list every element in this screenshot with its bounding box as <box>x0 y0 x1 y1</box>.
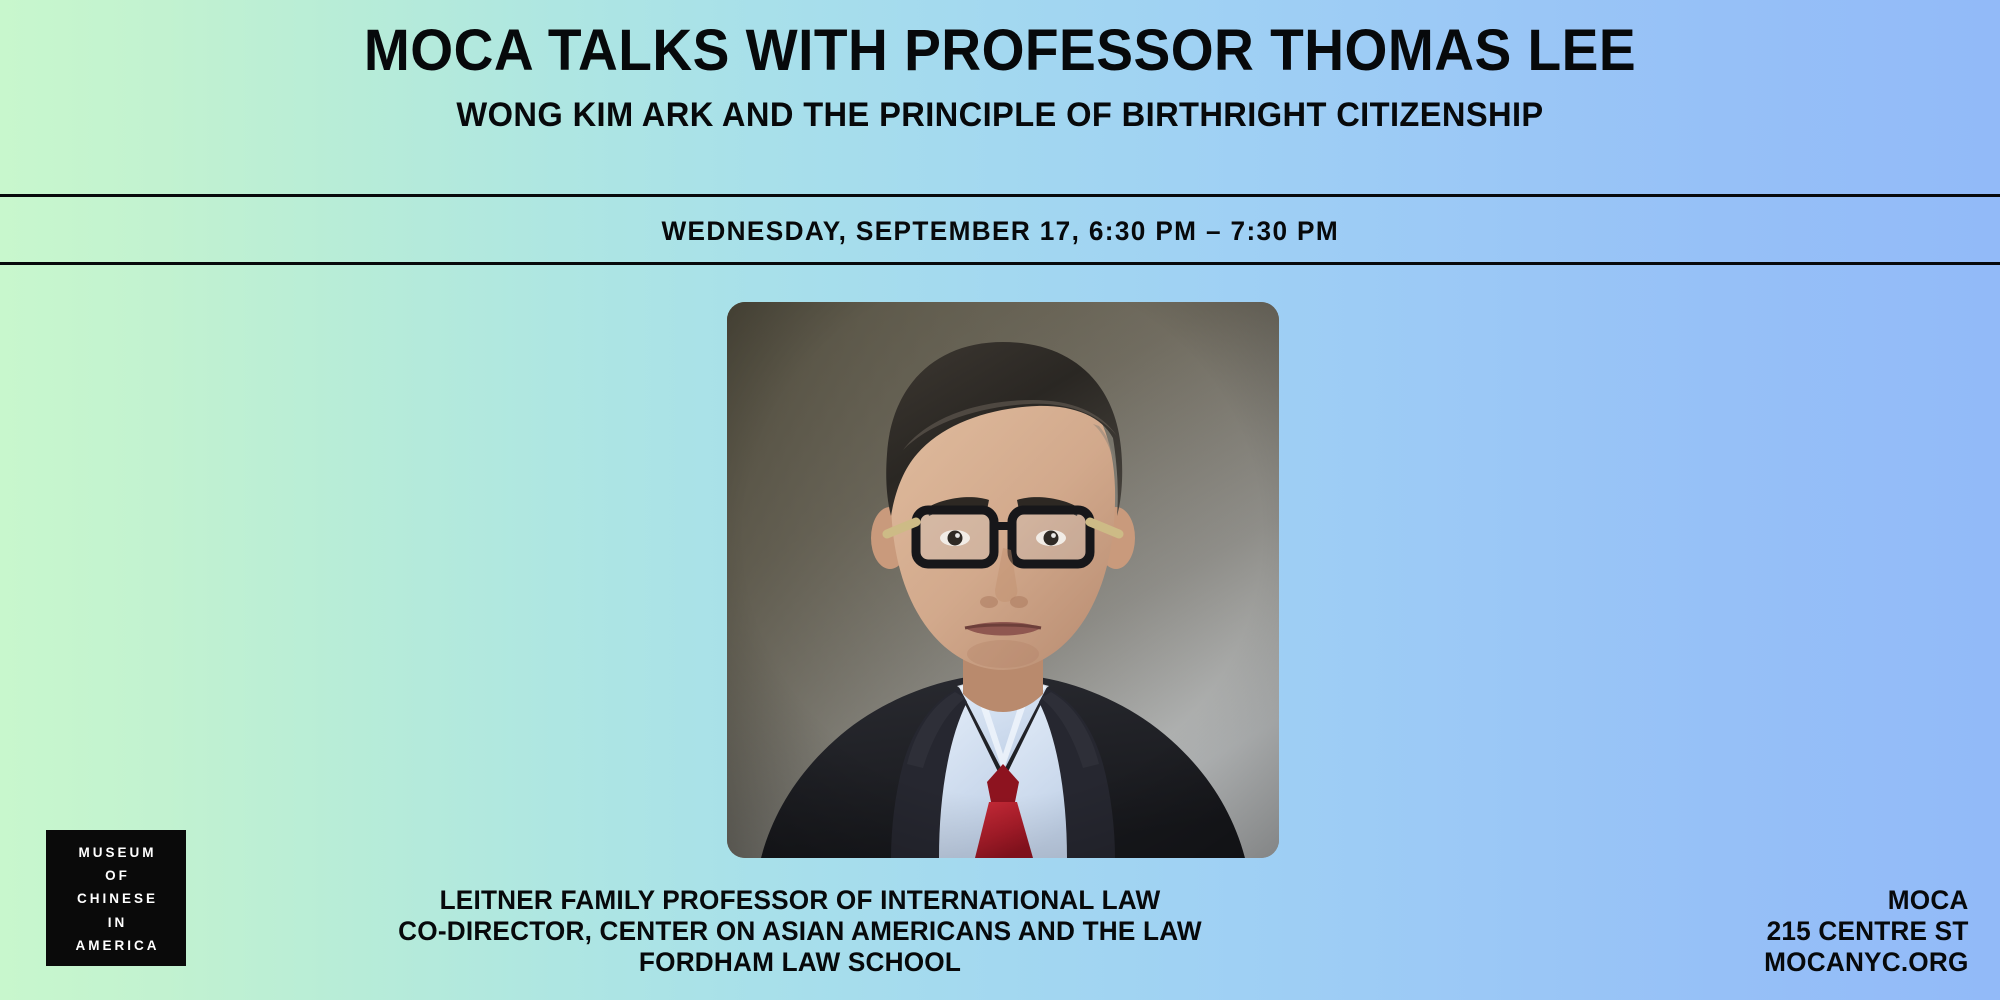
logo-line-america: America <box>73 934 160 957</box>
credit-line-3: Fordham Law School <box>393 947 1208 978</box>
datetime-row: Wednesday, September 17, 6:30 PM – 7:30 … <box>0 207 2000 255</box>
speaker-credits: Leitner Family Professor of Internationa… <box>380 885 1220 978</box>
credit-line-2: Co-Director, Center on Asian Americans a… <box>393 916 1208 947</box>
logo-line-chinese: Chinese <box>74 887 158 910</box>
contact-address: 215 Centre St <box>1764 916 1968 947</box>
credit-line-1: Leitner Family Professor of Internationa… <box>393 885 1208 916</box>
venue-contact: MOCA 215 Centre St mocanyc.org <box>1761 885 1972 978</box>
logo-line-of: of <box>102 864 130 887</box>
portrait-illustration <box>727 302 1279 858</box>
page-title: MOCA Talks with Professor Thomas Lee <box>50 22 1950 80</box>
contact-website[interactable]: mocanyc.org <box>1764 947 1968 978</box>
event-poster: MOCA Talks with Professor Thomas Lee Won… <box>0 0 2000 1000</box>
logo-line-in: in <box>105 911 128 934</box>
moca-logo: Museum of Chinese in America <box>46 830 186 966</box>
event-datetime: Wednesday, September 17, 6:30 PM – 7:30 … <box>661 216 1339 247</box>
speaker-portrait <box>727 302 1279 858</box>
logo-line-museum: Museum <box>76 841 157 864</box>
divider-top <box>0 194 2000 197</box>
page-subtitle: Wong Kim Ark and the Principle of Birthr… <box>40 98 1960 132</box>
contact-org: MOCA <box>1764 885 1968 916</box>
divider-bottom <box>0 262 2000 265</box>
